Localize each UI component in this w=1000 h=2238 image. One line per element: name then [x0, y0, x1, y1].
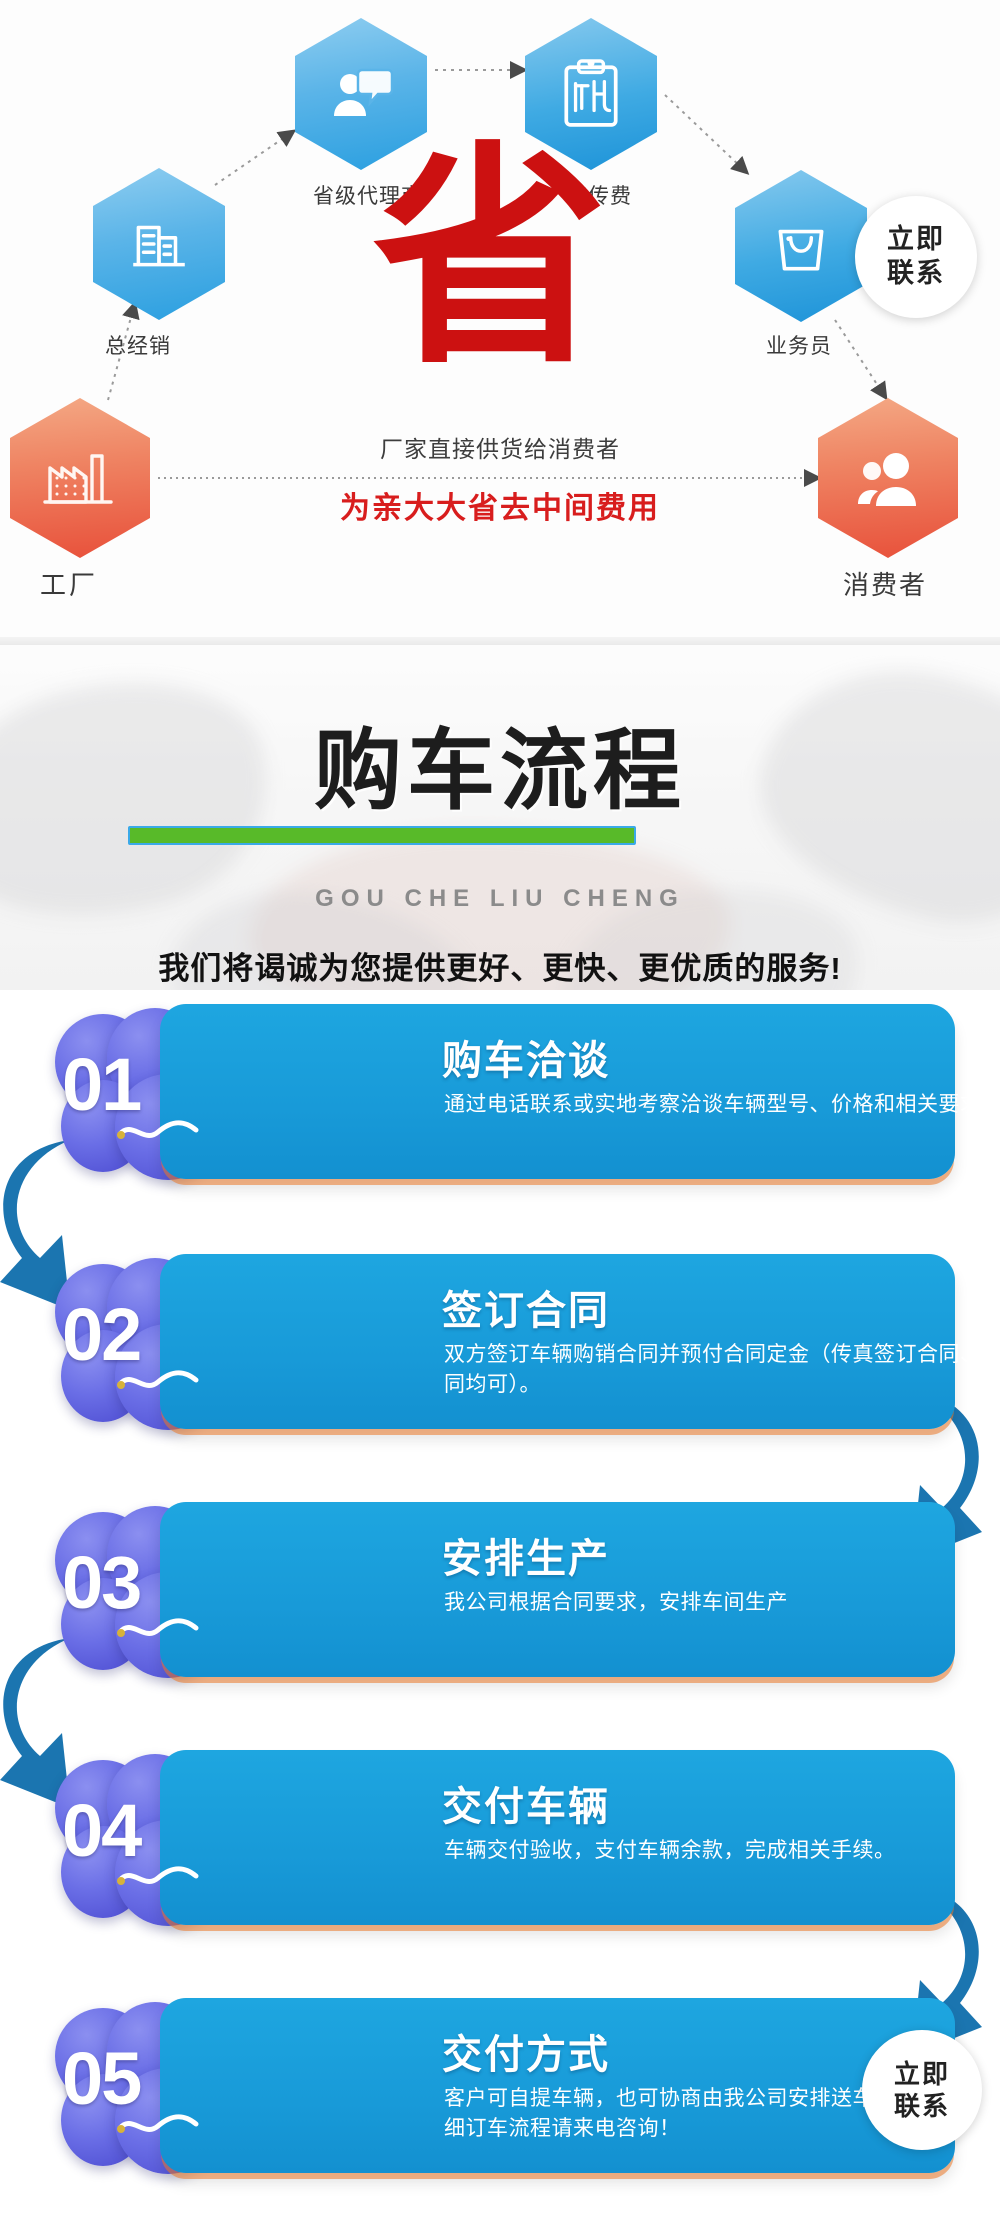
tagline-top: 厂家直接供货给消费者: [0, 430, 1000, 464]
contact-now-line2: 联系: [887, 257, 945, 291]
contact-now-line1: 立即: [894, 2058, 950, 2091]
contact-now-line2: 联系: [894, 2090, 950, 2123]
wave-icon: [116, 1368, 200, 1394]
node-zongjingxiao: [93, 168, 225, 320]
wave-icon: [116, 2112, 200, 2138]
step-title: 购车洽谈: [442, 1028, 610, 1086]
node-label-gongchang: 工厂: [40, 565, 98, 602]
shopping-bag-icon: [768, 213, 834, 279]
node-label-yewuyuan: 业务员: [766, 330, 832, 360]
step-card-body[interactable]: 交付车辆 车辆交付验收，支付车辆余款，完成相关手续。: [160, 1750, 955, 1925]
purchase-process-section: 购车流程 GOU CHE LIU CHENG 我们将谒诚为您提供更好、更快、更优…: [0, 645, 1000, 2238]
step-card[interactable]: 安排生产 我公司根据合同要求，安排车间生产 03: [0, 1488, 1000, 1698]
node-gongchang: [10, 398, 150, 558]
step-description: 双方签订车辆购销合同并预付合同定金（传真签订合同、实地签订合同均可）。: [444, 1340, 1000, 1401]
building-icon: [126, 211, 192, 277]
contact-now-badge-top[interactable]: 立即 联系: [855, 196, 977, 318]
contact-now-line1: 立即: [887, 223, 945, 257]
agent-chat-icon: [326, 61, 396, 127]
step-number: 05: [62, 2036, 252, 2121]
wave-icon: [116, 1864, 200, 1890]
step-description: 通过电话联系或实地考察洽谈车辆型号、价格和相关要求。: [444, 1090, 1000, 1120]
clipboard-pi-icon: [561, 59, 621, 129]
node-label-zongjingxiao: 总经销: [105, 330, 171, 360]
title-pinyin: GOU CHE LIU CHENG: [0, 885, 1000, 913]
hero-subtitle: 我们将谒诚为您提供更好、更快、更优质的服务!: [0, 943, 1000, 988]
big-red-character: 省: [370, 152, 610, 382]
step-description: 车辆交付验收，支付车辆余款，完成相关手续。: [444, 1836, 1000, 1866]
step-number: 03: [62, 1540, 252, 1625]
step-card-body[interactable]: 安排生产 我公司根据合同要求，安排车间生产: [160, 1502, 955, 1677]
title-underline-bar: [128, 826, 636, 845]
step-card-body[interactable]: 交付方式 客户可自提车辆，也可协商由我公司安排送车并协定相关费用.更多详细订车流…: [160, 1998, 955, 2173]
step-number: 02: [62, 1292, 252, 1377]
node-label-xiaofeizhe: 消费者: [843, 565, 927, 602]
node-yewuyuan: [735, 170, 867, 322]
contact-now-badge-bottom[interactable]: 立即 联系: [862, 2030, 982, 2150]
step-card[interactable]: 交付车辆 车辆交付验收，支付车辆余款，完成相关手续。 04: [0, 1736, 1000, 1946]
wave-icon: [116, 1616, 200, 1642]
step-title: 签订合同: [442, 1278, 610, 1336]
step-card[interactable]: 购车洽谈 通过电话联系或实地考察洽谈车辆型号、价格和相关要求。 01: [0, 990, 1000, 1200]
wave-icon: [116, 1118, 200, 1144]
step-title: 交付车辆: [442, 1774, 610, 1832]
hero-banner: 购车流程 GOU CHE LIU CHENG 我们将谒诚为您提供更好、更快、更优…: [0, 645, 1000, 990]
step-number: 01: [62, 1042, 252, 1127]
step-title: 交付方式: [442, 2022, 610, 2080]
step-number: 04: [62, 1788, 252, 1873]
tagline-bottom: 为亲大大省去中间费用: [0, 483, 1000, 527]
distribution-diagram-section: 总经销 省级代理商 宣传费: [0, 0, 1000, 645]
step-title: 安排生产: [442, 1526, 610, 1584]
step-card[interactable]: 交付方式 客户可自提车辆，也可协商由我公司安排送车并协定相关费用.更多详细订车流…: [0, 1984, 1000, 2194]
step-description: 我公司根据合同要求，安排车间生产: [444, 1588, 1000, 1618]
step-card-body[interactable]: 购车洽谈 通过电话联系或实地考察洽谈车辆型号、价格和相关要求。: [160, 1004, 955, 1179]
page-title: 购车流程: [0, 700, 1000, 827]
step-card-body[interactable]: 签订合同 双方签订车辆购销合同并预付合同定金（传真签订合同、实地签订合同均可）。: [160, 1254, 955, 1429]
steps-list: 购车洽谈 通过电话联系或实地考察洽谈车辆型号、价格和相关要求。 01 签订合同 …: [0, 990, 1000, 2238]
node-xiaofeizhe: [818, 398, 958, 558]
step-card[interactable]: 签订合同 双方签订车辆购销合同并预付合同定金（传真签订合同、实地签订合同均可）。…: [0, 1240, 1000, 1450]
